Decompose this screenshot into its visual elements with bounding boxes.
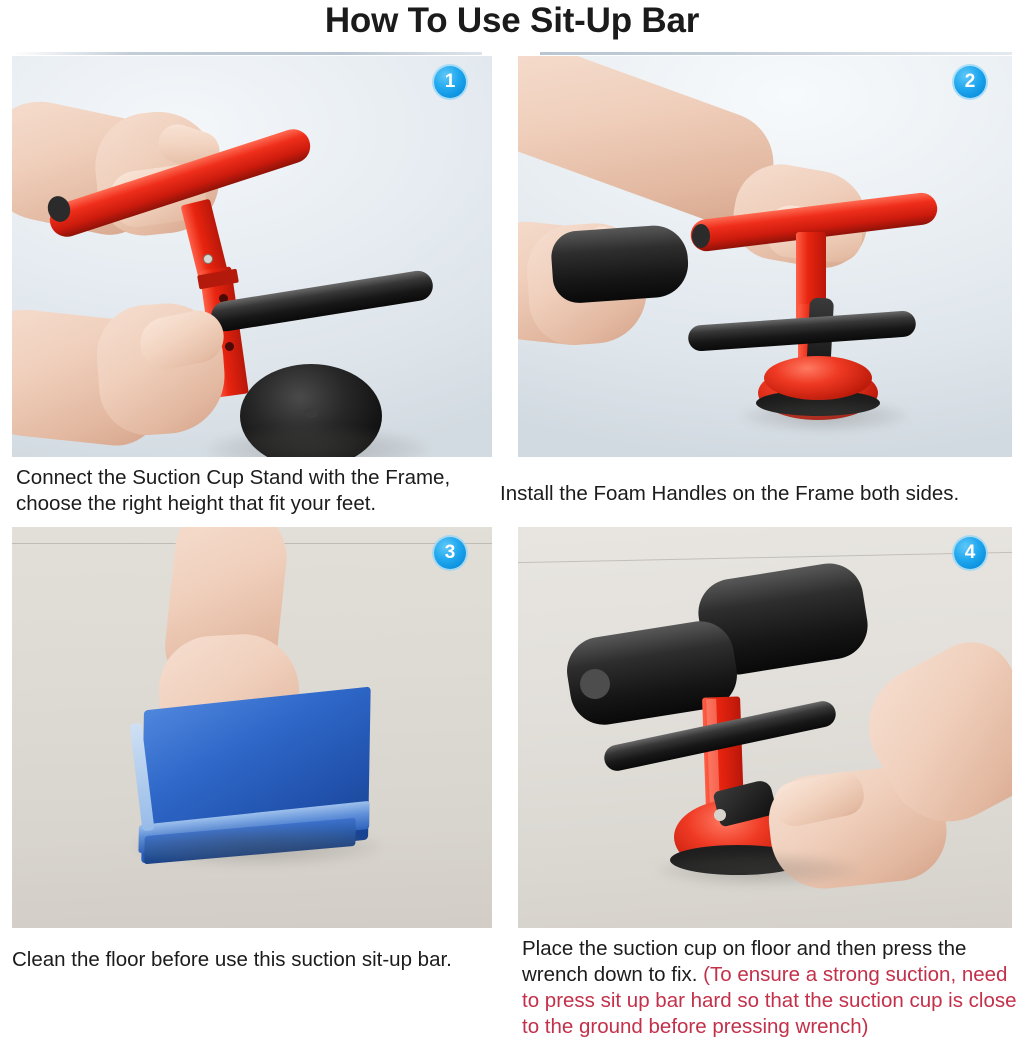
step-badge-1: 1 — [434, 66, 466, 98]
foam-roller-endcap — [580, 669, 610, 699]
step-badge-3: 3 — [434, 537, 466, 569]
step-photo-4 — [518, 527, 1012, 928]
drop-shadow — [742, 400, 908, 432]
step-caption-2: Install the Foam Handles on the Frame bo… — [500, 481, 1022, 507]
title-divider-right — [540, 52, 1012, 55]
step-photo-3 — [12, 527, 492, 928]
step-badge-4: 4 — [954, 537, 986, 569]
header: How To Use Sit-Up Bar — [0, 0, 1024, 56]
suction-cup-dome — [764, 356, 872, 400]
step-photo-2 — [518, 56, 1012, 457]
step-caption-3: Clean the floor before use this suction … — [12, 947, 504, 973]
page-title: How To Use Sit-Up Bar — [0, 1, 1024, 41]
wrench-pin — [714, 809, 726, 821]
photo-step-1 — [12, 56, 492, 457]
step-badge-2: 2 — [954, 66, 986, 98]
cloth-shadow — [132, 827, 382, 867]
drop-shadow — [658, 853, 858, 887]
red-top-bar-endcap — [692, 224, 710, 248]
step-caption-1: Connect the Suction Cup Stand with the F… — [16, 465, 494, 517]
instruction-infographic: How To Use Sit-Up Bar — [0, 0, 1024, 1060]
step-caption-4: Place the suction cup on floor and then … — [522, 936, 1022, 1040]
step-photo-1 — [12, 56, 492, 457]
suction-cup-center-nub — [304, 408, 318, 418]
photo-step-3 — [12, 527, 492, 928]
photo-step-4 — [518, 527, 1012, 928]
adjust-hole-3 — [225, 342, 234, 351]
title-divider-left — [12, 52, 482, 55]
foam-handle — [550, 223, 691, 304]
frame-pin-screw — [203, 254, 213, 264]
photo-step-2 — [518, 56, 1012, 457]
